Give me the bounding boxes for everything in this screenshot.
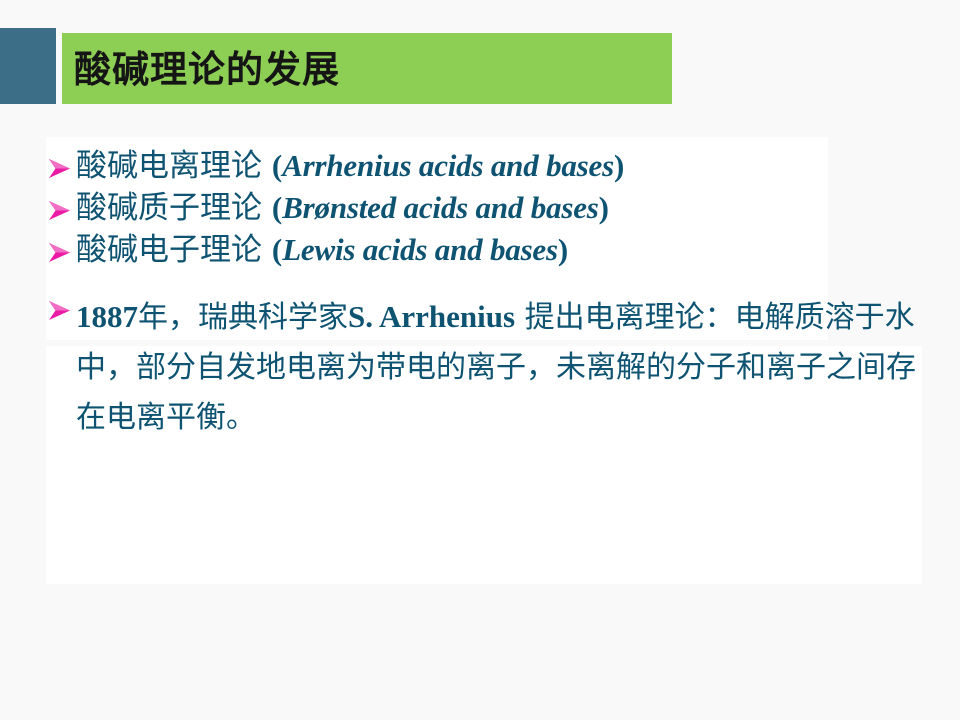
bullet-latin-label: Arrhenius acids and bases: [282, 148, 614, 183]
slide-canvas: 酸碱理论的发展 酸碱电离理论 (Arrhenius acids and base…: [0, 0, 960, 720]
bullet-latin-label: Lewis acids and bases: [282, 232, 558, 267]
bullet-list: 酸碱电离理论 (Arrhenius acids and bases) 酸碱质子理…: [46, 137, 936, 443]
list-item-text: 酸碱质子理论 (Brønsted acids and bases): [76, 192, 936, 224]
paragraph-year: 1887: [76, 299, 138, 334]
page-title: 酸碱理论的发展: [74, 40, 664, 100]
arrow-head-bullet-icon: [46, 192, 76, 224]
bullet-close-paren: ): [614, 148, 624, 183]
bullet-open-paren: (: [272, 148, 282, 183]
paragraph-scientist-name: S. Arrhenius: [348, 299, 515, 334]
list-item: 1887年，瑞典科学家S. Arrhenius 提出电离理论：电解质溶于水中，部…: [46, 266, 936, 443]
title-accent-block: [0, 28, 56, 104]
arrow-head-bullet-icon: [46, 234, 76, 266]
paragraph-part-a: 年，瑞典科学家: [138, 300, 348, 335]
list-item: 酸碱质子理论 (Brønsted acids and bases): [46, 182, 936, 224]
bullet-cjk-label: 酸碱电子理论: [76, 232, 272, 268]
bullet-latin-label: Brønsted acids and bases: [282, 190, 598, 225]
arrow-head-bullet-icon: [46, 292, 76, 324]
list-item-text: 酸碱电子理论 (Lewis acids and bases): [76, 234, 936, 266]
arrow-head-bullet-icon: [46, 150, 76, 182]
bullet-close-paren: ): [599, 190, 609, 225]
bullet-cjk-label: 酸碱质子理论: [76, 190, 272, 226]
list-item: 酸碱电离理论 (Arrhenius acids and bases): [46, 137, 936, 182]
bullet-cjk-label: 酸碱电离理论: [76, 148, 272, 184]
bullet-open-paren: (: [272, 232, 282, 267]
list-item-text: 酸碱电离理论 (Arrhenius acids and bases): [76, 150, 936, 182]
bullet-close-paren: ): [558, 232, 568, 267]
list-item: 酸碱电子理论 (Lewis acids and bases): [46, 224, 936, 266]
bullet-open-paren: (: [272, 190, 282, 225]
list-item-paragraph: 1887年，瑞典科学家S. Arrhenius 提出电离理论：电解质溶于水中，部…: [76, 292, 936, 443]
